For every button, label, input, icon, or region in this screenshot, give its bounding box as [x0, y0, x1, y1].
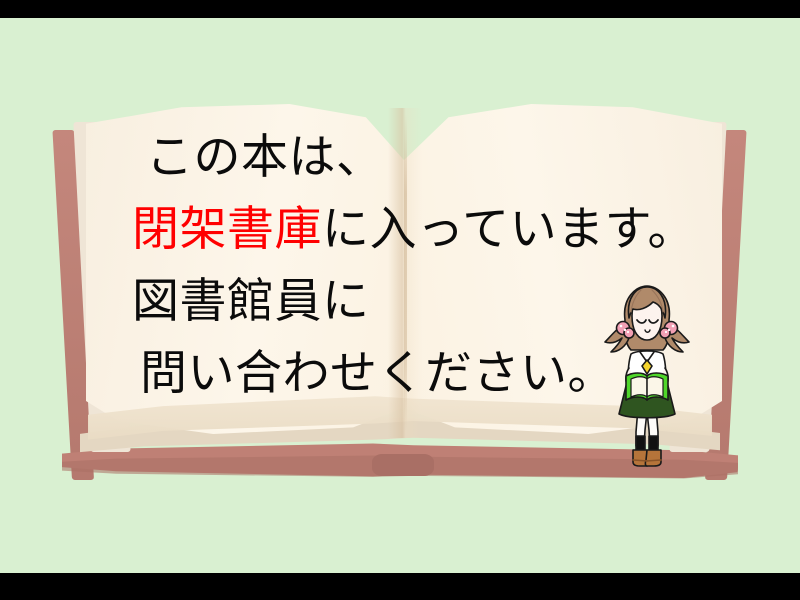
book-spine-clasp: [372, 454, 434, 476]
screenshot-stage: この本は、 閉架書庫に入っています。 図書館員に 問い合わせください。: [0, 0, 800, 600]
open-book-illustration: この本は、 閉架書庫に入っています。 図書館員に 問い合わせください。: [0, 18, 800, 573]
letterbox-bar-top: [0, 0, 800, 18]
notice-line-2: 閉架書庫に入っています。: [132, 194, 692, 266]
notice-line-2-rest: に入っています。: [322, 202, 695, 257]
notice-highlight-closed-stacks: 閉架書庫: [132, 202, 322, 257]
girl-reading-book-icon: [595, 280, 699, 476]
letterbox-bar-bottom: [0, 573, 800, 600]
notice-line-1: この本は、: [132, 122, 692, 194]
girl-reading-book-illustration: [595, 280, 699, 476]
